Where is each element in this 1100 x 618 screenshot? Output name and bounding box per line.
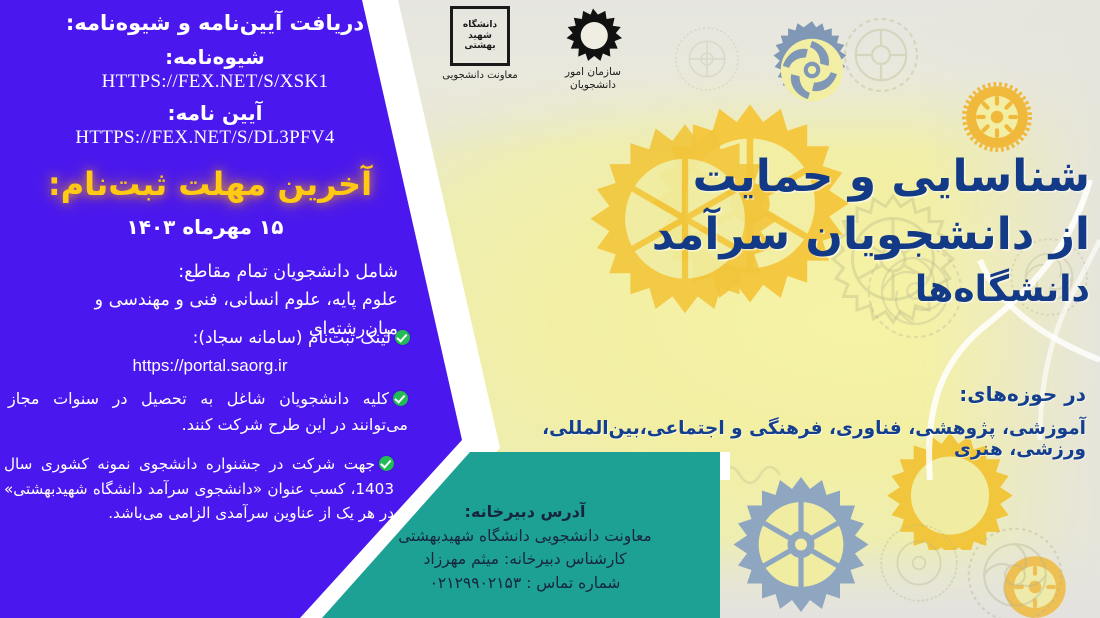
gear-outline-bottom-icon — [960, 520, 1070, 618]
gear-outline-bottom-small-icon — [874, 518, 964, 608]
green-check-icon — [395, 330, 410, 345]
university-logo-mark: دانشگاه شهید بهشتی — [450, 6, 510, 66]
gear-outline-tiny-icon — [670, 22, 744, 96]
organization-logo: سازمان امور دانشجویان — [533, 6, 653, 92]
organization-caption-line1: سازمان امور — [533, 66, 653, 79]
registration-link-label: لینک ثبت‌نام (سامانه سجاد): — [193, 328, 391, 348]
organization-logo-mark — [562, 6, 624, 64]
deadline-title: آخرین مهلت ثبت‌نام: — [20, 160, 400, 208]
list-item: لینک ثبت‌نام (سامانه سجاد): https://port… — [10, 325, 410, 380]
registration-url-link[interactable]: https://portal.saorg.ir — [10, 351, 410, 379]
secretariat-line2: کارشناس دبیرخانه: میثم مهرزاد — [330, 548, 720, 571]
page-title-line2: از دانشجویان سرآمد — [570, 206, 1090, 264]
page-title-line1: شناسایی و حمایت — [570, 148, 1090, 206]
gear-outline-medium-icon — [836, 10, 926, 100]
secretariat-phone: شماره تماس : ۰۲۱۲۹۹۰۲۱۵۳ — [330, 572, 720, 595]
fields-list: آموزشی، پژوهشی، فناوری، فرهنگی و اجتماعی… — [466, 418, 1086, 460]
organization-logo-caption: سازمان امور دانشجویان — [533, 66, 653, 92]
deadline-date: ۱۵ مهرماه ۱۴۰۳ — [20, 212, 390, 242]
page-title: شناسایی و حمایت از دانشجویان سرآمد دانشگ… — [570, 148, 1090, 314]
list-item: کلیه دانشجویان شاغل به تحصیل در سنوات مج… — [8, 386, 408, 437]
secretariat-line1: معاونت دانشجویی دانشگاه شهیدبهشتی — [330, 525, 720, 548]
gear-orange-small-icon — [962, 82, 1032, 152]
gear-blue-bottom-icon — [726, 474, 876, 618]
guideline-url-link[interactable]: HTTPS://FEX.NET/S/XSK1 — [20, 68, 410, 97]
secretariat-info: آدرس دبیرخانه: معاونت دانشجویی دانشگاه ش… — [330, 500, 720, 595]
fields-heading: در حوزه‌های: — [786, 382, 1086, 406]
download-heading: دریافت آیین‌نامه و شیوه‌نامه: — [20, 8, 410, 40]
regulation-url-link[interactable]: HTTPS://FEX.NET/S/DL3PFV4 — [10, 124, 400, 153]
organization-caption-line2: دانشجویان — [533, 79, 653, 92]
eligible-levels-line1: شامل دانشجویان تمام مقاطع: — [8, 258, 398, 286]
secretariat-title: آدرس دبیرخانه: — [330, 500, 720, 524]
page-title-line3: دانشگاه‌ها — [570, 266, 1090, 314]
green-check-icon — [379, 456, 394, 471]
university-logo-caption: معاونت دانشجویی — [430, 70, 530, 81]
university-logo: دانشگاه شهید بهشتی معاونت دانشجویی — [430, 6, 530, 81]
poster-root: دانشگاه شهید بهشتی معاونت دانشجویی سازما… — [0, 0, 1100, 618]
green-check-icon — [393, 391, 408, 406]
eligibility-note: کلیه دانشجویان شاغل به تحصیل در سنوات مج… — [8, 389, 408, 434]
